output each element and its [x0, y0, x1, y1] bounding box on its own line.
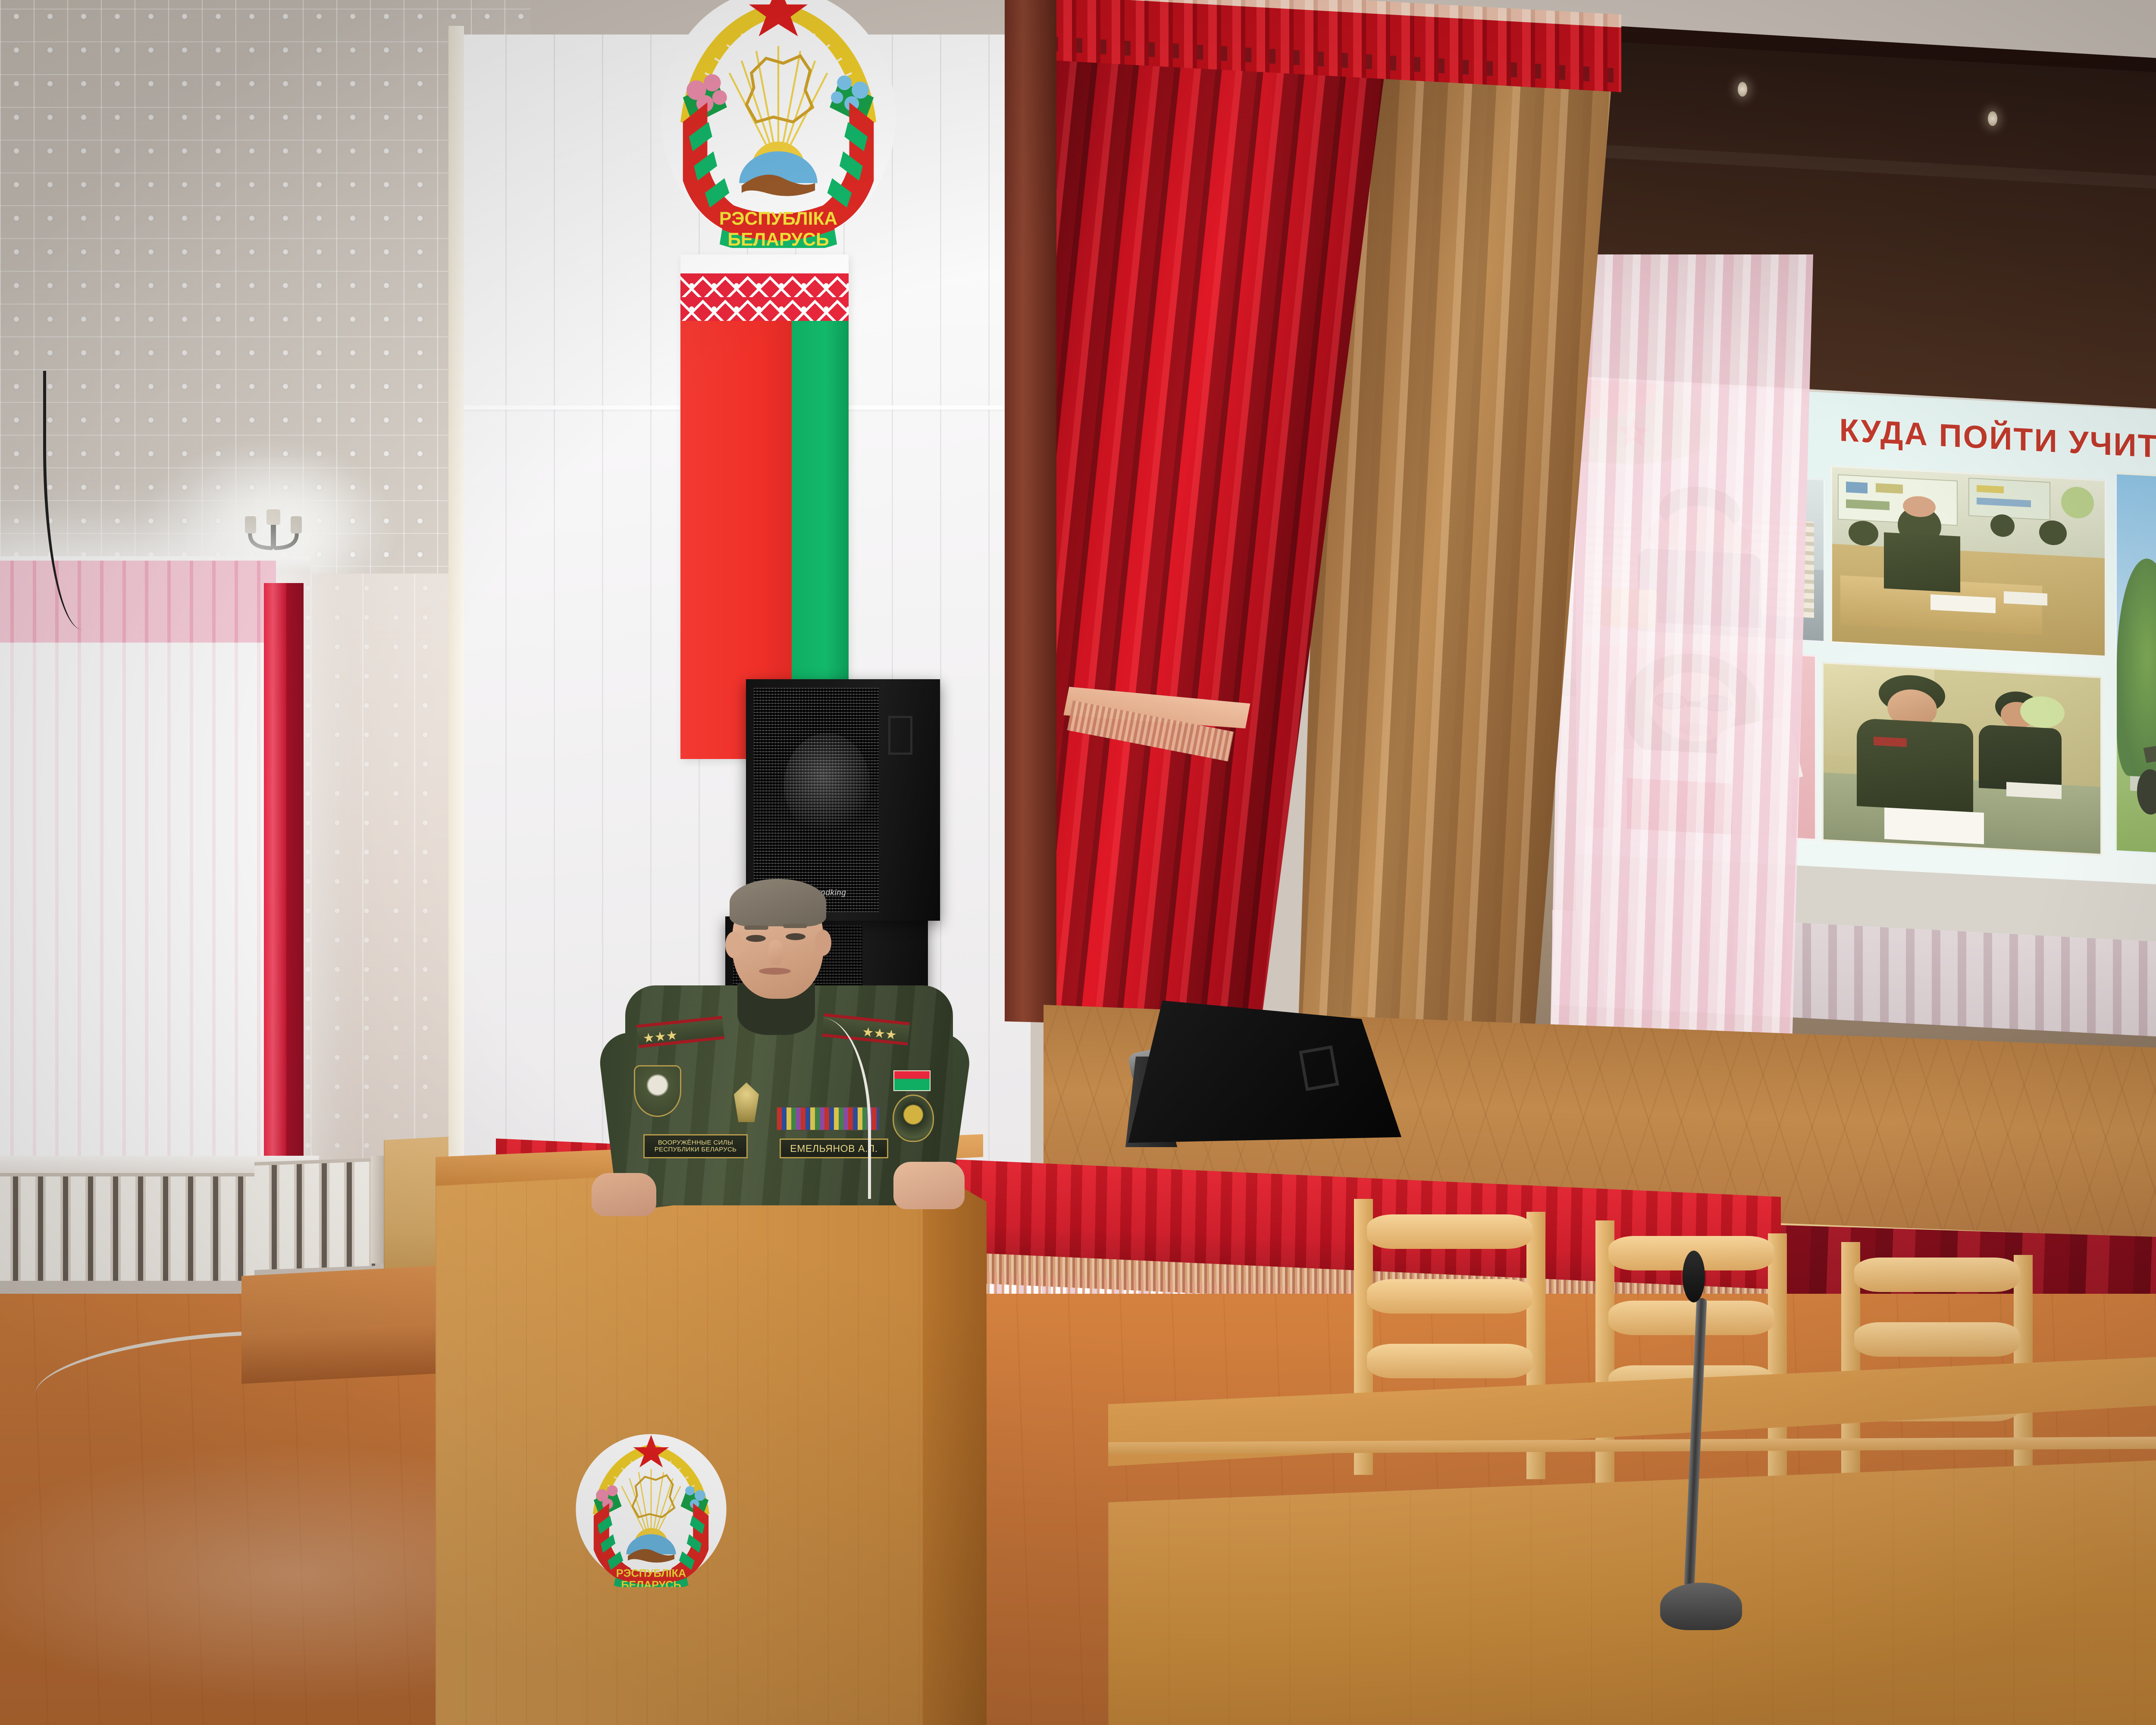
officer-unit-line2: РЕСПУБЛИКИ БЕЛАРУСЬ: [655, 1146, 737, 1153]
flag-hanger-band: [680, 254, 849, 273]
vertical-blinds-top-band: [0, 561, 276, 643]
gooseneck-microphone[interactable]: [1656, 1251, 1720, 1492]
wall-sconce-light: [241, 507, 306, 558]
cast-iron-radiator-1: [0, 1173, 254, 1281]
officer-ear-right: [815, 930, 831, 956]
cast-iron-radiator-2: [254, 1158, 375, 1270]
podium-coa-line1: РЭСПУБЛІКА: [616, 1568, 686, 1580]
officer-unit-nameplate: ВООРУЖЁННЫЕ СИЛЫ РЕСПУБЛИКИ БЕЛАРУСЬ: [643, 1134, 748, 1158]
pa-speaker-cone: [784, 733, 870, 837]
stage-monitor-speaker: [1117, 983, 1419, 1164]
officer-flag-patch: [893, 1070, 931, 1091]
officer-hair: [730, 879, 826, 926]
vertical-blinds[interactable]: [0, 561, 276, 1177]
officer-shoulder-patch: [634, 1065, 681, 1117]
presidium-table: [1108, 1337, 2156, 1725]
microphone-capsule: [1683, 1251, 1705, 1302]
officer-unit-insignia-patch: [893, 1095, 934, 1142]
coat-of-arms-of-belarus-wall: РЭСПУБЛІКА БЕЛАРУСЬ: [655, 0, 901, 248]
officer-eye-left: [746, 935, 766, 942]
ceiling-light-2: [1988, 111, 1997, 126]
coa-ribbon-line1: РЭСПУБЛІКА: [719, 208, 837, 229]
photo-military-academy-building: [2115, 473, 2156, 870]
coa-ribbon-line2: БЕЛАРУСЬ: [727, 229, 829, 248]
officer-ear-left: [725, 931, 743, 958]
monitor-handle: [1299, 1045, 1339, 1091]
monitor-body: [1117, 1000, 1401, 1143]
flag-ornament-pattern: [680, 273, 849, 321]
photo-cadets-classroom: [1830, 465, 2106, 658]
officer-eye-right: [786, 933, 805, 940]
speaker-podium: РЭСПУБЛІКА БЕЛАРУСЬ: [436, 1134, 983, 1725]
assembly-hall-photo: РЭСПУБЛІКА БЕЛАРУСЬ Soundking: [0, 0, 2156, 1725]
ceiling-light-1: [1738, 82, 1747, 97]
officer-rank-stars-left: ★★★: [642, 1029, 678, 1045]
officer-nose: [768, 940, 783, 965]
pa-speaker-top-port: [888, 716, 912, 755]
podium-coa-line2: БЕЛАРУСЬ: [621, 1579, 681, 1587]
coat-of-arms-of-belarus-podium: РЭСПУБЛІКА БЕЛАРУСЬ: [573, 1432, 729, 1587]
sheer-drape: [1550, 254, 1813, 1044]
microphone-base: [1660, 1583, 1742, 1630]
podium-side-panel: [918, 1162, 987, 1725]
officer-left-hand: [592, 1173, 656, 1216]
officer-right-hand: [893, 1162, 965, 1209]
table-front-panel: [1108, 1443, 2156, 1725]
blind-panel-red-1[interactable]: [264, 583, 286, 1157]
blind-panel-red-2[interactable]: [286, 583, 304, 1157]
officer-brow-left: [744, 925, 768, 930]
photo-cadet-writing: [1822, 662, 2102, 856]
officer-brow-right: [783, 924, 807, 928]
wall-corner-edge: [448, 26, 464, 1190]
officer-rank-stars-right: ★★★: [862, 1026, 897, 1042]
officer-mouth: [759, 968, 791, 975]
officer-unit-line1: ВООРУЖЁННЫЕ СИЛЫ: [658, 1139, 733, 1146]
speaking-officer: ★★★ ★★★ ВООРУЖЁННЫЕ СИЛЫ РЕСПУБЛИКИ БЕЛА…: [573, 875, 962, 1203]
proscenium-wood-frame: [1005, 0, 1056, 1023]
